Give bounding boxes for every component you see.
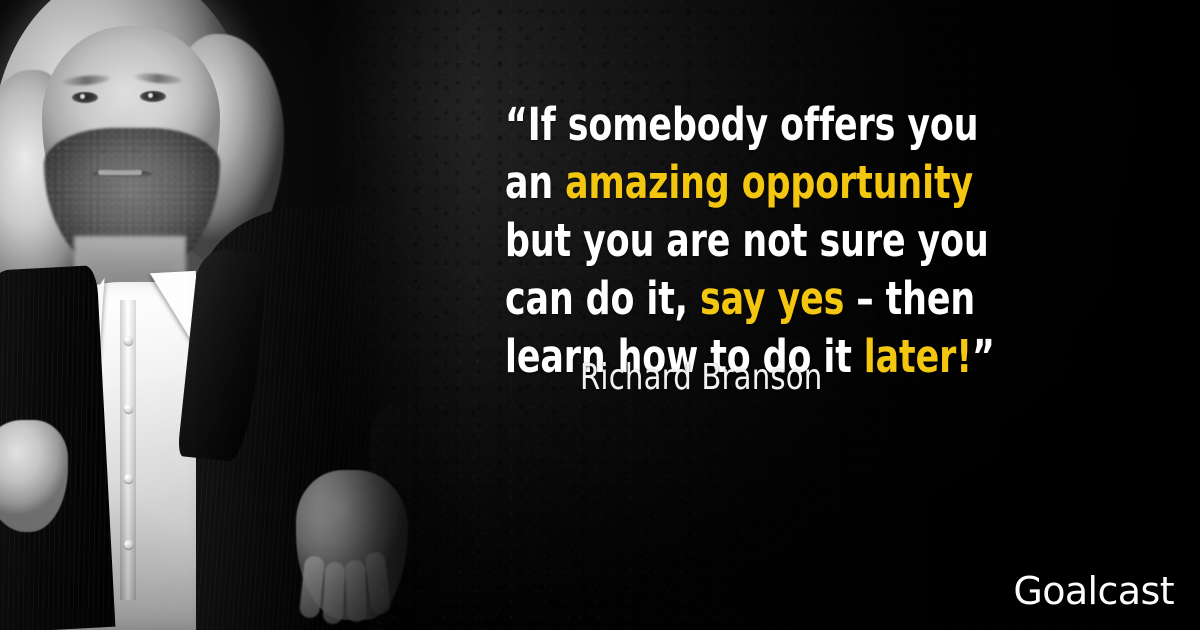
- quote-highlight: later!: [864, 330, 972, 383]
- quote-segment: ”: [972, 330, 995, 383]
- quote-highlight: amazing opportunity: [565, 156, 973, 209]
- quote-attribution: Richard Branson: [580, 356, 822, 400]
- quote-text: “If somebody offers you an amazing oppor…: [505, 96, 1030, 386]
- quote-highlight: say yes: [700, 272, 844, 325]
- goalcast-logo: Goalcast: [1013, 570, 1174, 612]
- quote-card: “If somebody offers you an amazing oppor…: [0, 0, 1200, 630]
